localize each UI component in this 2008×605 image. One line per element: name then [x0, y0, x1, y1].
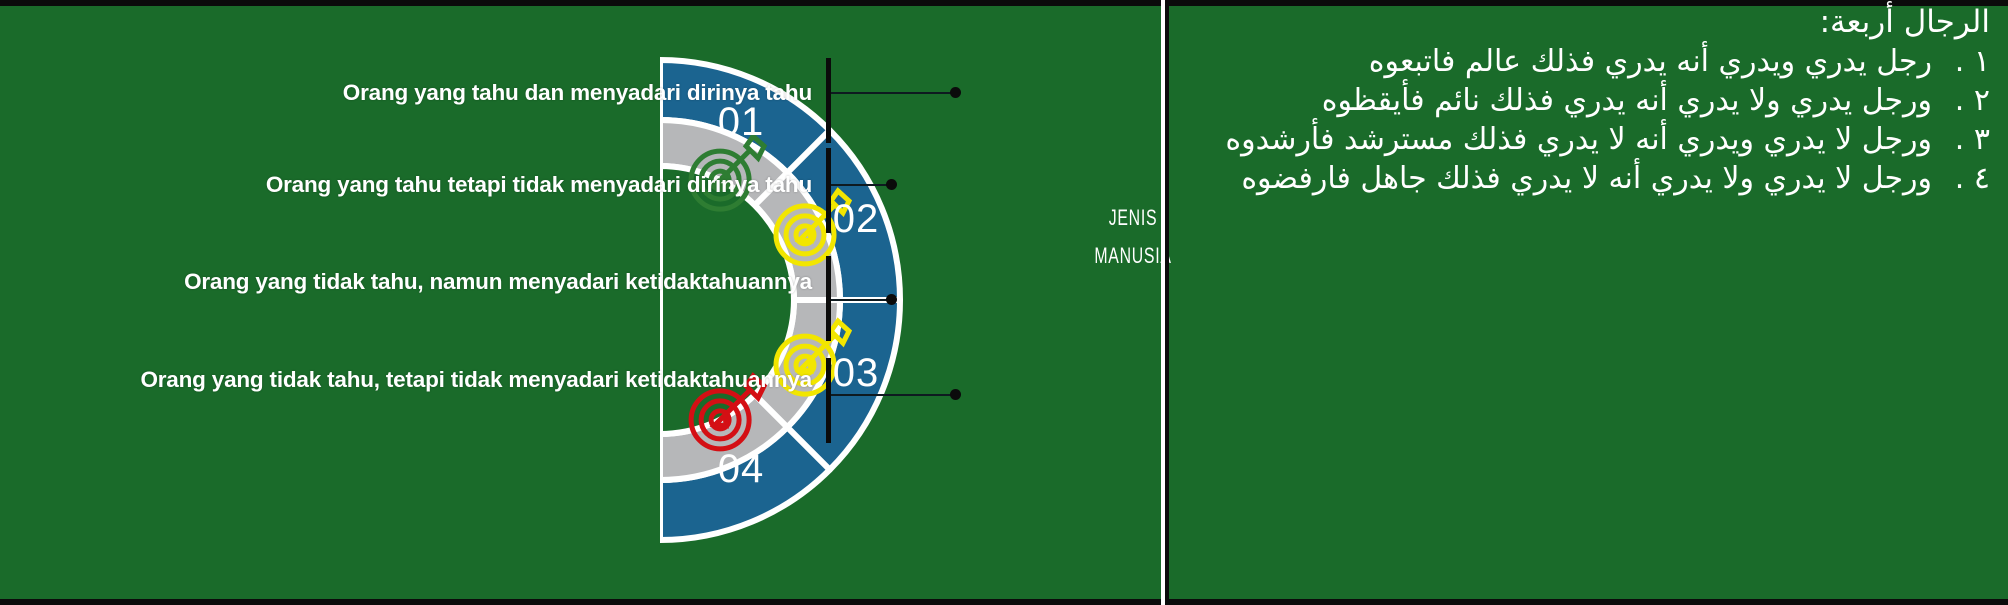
callout-dot-04 [950, 389, 961, 400]
callout-connector-01 [831, 92, 956, 94]
arabic-text-panel: الرجال أربعة: ١ . رجل يدري ويدري أنه يدر… [1178, 0, 1998, 198]
arabic-marker-3: ٣ . [1932, 120, 1990, 159]
callout-label-04: Orang yang tidak tahu, tetapi tidak meny… [22, 365, 812, 394]
callout-tick-03 [826, 256, 831, 341]
arabic-list-item: ١ . رجل يدري ويدري أنه يدري فذلك عالم فا… [1178, 42, 1998, 81]
callout-dot-01 [950, 87, 961, 98]
arabic-text-3: ورجل لا يدري ويدري أنه لا يدري فذلك مستر… [1178, 120, 1932, 159]
callout-label-02: Orang yang tahu tetapi tidak menyadari d… [22, 170, 812, 199]
callout-dot-03 [886, 294, 897, 305]
callout-connector-03 [831, 299, 891, 301]
arabic-title: الرجال أربعة: [1178, 0, 1998, 42]
callout-dot-02 [886, 179, 897, 190]
arabic-list: ١ . رجل يدري ويدري أنه يدري فذلك عالم فا… [1178, 42, 1998, 198]
segment-02-number: 02 [833, 197, 880, 241]
callout-tick-04 [826, 358, 831, 443]
callout-label-03: Orang yang tidak tahu, namun menyadari k… [22, 267, 812, 296]
arabic-marker-4: ٤ . [1932, 159, 1990, 198]
callout-connector-04 [831, 394, 956, 396]
arabic-text-1: رجل يدري ويدري أنه يدري فذلك عالم فاتبعو… [1178, 42, 1932, 81]
arabic-marker-2: ٢ . [1932, 81, 1990, 120]
callout-connector-02 [831, 184, 891, 186]
segment-03-number: 03 [833, 351, 880, 395]
slide-canvas: 01 02 03 04 Jenis Manusia Orang yang tah… [0, 0, 2008, 605]
center-label-line1: Jenis [1072, 196, 1194, 234]
callout-tick-01 [826, 58, 831, 143]
callout-labels: Orang yang tahu dan menyadari dirinya ta… [0, 0, 812, 605]
diagram-center-label: Jenis Manusia [1072, 196, 1194, 272]
callout-label-01: Orang yang tahu dan menyadari dirinya ta… [22, 78, 812, 107]
arabic-list-item: ٣ . ورجل لا يدري ويدري أنه لا يدري فذلك … [1178, 120, 1998, 159]
arabic-list-item: ٤ . ورجل لا يدري ولا يدري أنه لا يدري فذ… [1178, 159, 1998, 198]
center-label-line2: Manusia [1072, 234, 1194, 272]
arabic-marker-1: ١ . [1932, 42, 1990, 81]
arabic-list-item: ٢ . ورجل يدري ولا يدري أنه يدري فذلك نائ… [1178, 81, 1998, 120]
arabic-text-4: ورجل لا يدري ولا يدري أنه لا يدري فذلك ج… [1178, 159, 1932, 198]
arabic-text-2: ورجل يدري ولا يدري أنه يدري فذلك نائم فأ… [1178, 81, 1932, 120]
slide-divider-edge [1165, 0, 1169, 605]
callout-tick-02 [826, 148, 831, 233]
